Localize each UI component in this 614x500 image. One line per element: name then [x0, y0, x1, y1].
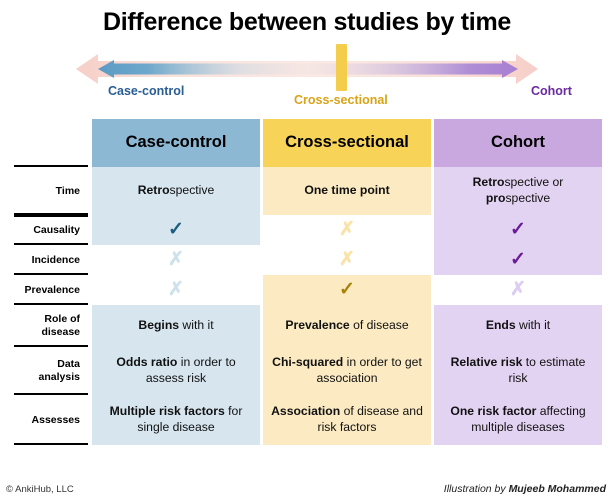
- mark-incidence-cross-sectional: ✗: [263, 245, 431, 275]
- copyright-notice: © AnkiHub, LLC: [6, 484, 74, 495]
- cell-role-case-control: Begins with it: [92, 305, 260, 347]
- table-row-data-analysis: Dataanalysis Odds ratio in order to asse…: [14, 347, 602, 395]
- column-header-case-control: Case-control: [92, 119, 260, 167]
- row-label-line2: analysis: [39, 371, 80, 383]
- cell-data-cohort: Relative risk to estimate risk: [434, 347, 602, 395]
- label-separator-line: [14, 215, 88, 217]
- cell-role-cross-sectional: Prevalence of disease: [263, 305, 431, 347]
- cell-bold-text: Ends: [486, 318, 516, 332]
- table-row-assesses: Assesses Multiple risk factors for singl…: [14, 395, 602, 445]
- table-row-prevalence: Prevalence ✗ ✓ ✗: [14, 275, 602, 305]
- table-header-row: Case-control Cross-sectional Cohort: [14, 119, 602, 167]
- cell-rest-text: spective or: [504, 175, 563, 189]
- cell-bold-text: Prevalence: [285, 318, 349, 332]
- cell-data-case-control: Odds ratio in order to assess risk: [92, 347, 260, 395]
- cell-bold-text: One time point: [304, 183, 389, 197]
- time-spectrum-arrow: [76, 52, 538, 86]
- table-row-role-of-disease: Role ofdisease Begins with it Prevalence…: [14, 305, 602, 347]
- spectrum-label-case-control: Case-control: [108, 84, 184, 98]
- cell-time-cohort: Retrospective or prospective: [434, 167, 602, 215]
- row-label-data-analysis: Dataanalysis: [14, 347, 88, 395]
- cell-bold-text: One risk factor: [450, 404, 536, 418]
- cell-data-cross-sectional: Chi-squared in order to get association: [263, 347, 431, 395]
- row-label-wrap-time: Time: [14, 167, 88, 215]
- cell-assesses-cohort: One risk factor affecting multiple disea…: [434, 395, 602, 445]
- row-label-causality: Causality: [14, 215, 88, 245]
- row-label-wrap-role: Role ofdisease: [14, 305, 88, 347]
- row-label-wrap-prevalence: Prevalence: [14, 275, 88, 305]
- table-row-causality: Causality ✓ ✗ ✓: [14, 215, 602, 245]
- row-label-wrap-incidence: Incidence: [14, 245, 88, 275]
- cell-bold-text: Association: [271, 404, 340, 418]
- cell-bold-text: Begins: [138, 318, 179, 332]
- spectrum-gradient-bar: [98, 60, 518, 78]
- cell-bold-text: Retro: [138, 183, 170, 197]
- mark-causality-cohort: ✓: [434, 215, 602, 245]
- illustration-credit: Illustration by Mujeeb Mohammed: [444, 483, 606, 495]
- spectrum-label-cohort: Cohort: [531, 84, 572, 98]
- page-title: Difference between studies by time: [0, 8, 614, 37]
- cell-rest-text: of disease: [350, 318, 409, 332]
- credit-prefix: Illustration by: [444, 483, 509, 495]
- spectrum-label-cross-sectional: Cross-sectional: [294, 93, 388, 107]
- column-header-cross-sectional: Cross-sectional: [263, 119, 431, 167]
- cell-rest-text: with it: [516, 318, 551, 332]
- row-label-wrap-assesses: Assesses: [14, 395, 88, 445]
- cell-rest-text: with it: [179, 318, 214, 332]
- mark-prevalence-case-control: ✗: [92, 275, 260, 305]
- comparison-table: Case-control Cross-sectional Cohort Time…: [14, 119, 602, 445]
- table-row-incidence: Incidence ✗ ✗ ✓: [14, 245, 602, 275]
- table-row-time: Time Retrospective One time point Retros…: [14, 167, 602, 215]
- cell-bold-text: Chi-squared: [272, 355, 343, 369]
- row-label-incidence: Incidence: [14, 245, 88, 275]
- label-separator-line: [14, 443, 88, 445]
- cell-bold-text: Relative risk: [451, 355, 523, 369]
- row-label-time: Time: [14, 167, 88, 215]
- mark-prevalence-cohort: ✗: [434, 275, 602, 305]
- cell-assesses-cross-sectional: Association of disease and risk factors: [263, 395, 431, 445]
- row-label-wrap-causality: Causality: [14, 215, 88, 245]
- row-label-prevalence: Prevalence: [14, 275, 88, 305]
- cell-role-cohort: Ends with it: [434, 305, 602, 347]
- row-label-line2: disease: [41, 326, 80, 338]
- row-label-line1: Role of: [44, 313, 80, 325]
- cell-assesses-case-control: Multiple risk factors for single disease: [92, 395, 260, 445]
- row-label-wrap-data: Dataanalysis: [14, 347, 88, 395]
- cell-bold-text: Odds ratio: [116, 355, 177, 369]
- credit-name: Mujeeb Mohammed: [509, 483, 606, 495]
- cell-time-cross-sectional: One time point: [263, 167, 431, 215]
- cell-rest-text-2: spective: [505, 191, 550, 205]
- column-header-cohort: Cohort: [434, 119, 602, 167]
- cell-bold-text-2: pro: [486, 191, 506, 205]
- cell-time-case-control: Retrospective: [92, 167, 260, 215]
- mark-causality-cross-sectional: ✗: [263, 215, 431, 245]
- mark-prevalence-cross-sectional: ✓: [263, 275, 431, 305]
- mark-incidence-cohort: ✓: [434, 245, 602, 275]
- row-label-role-of-disease: Role ofdisease: [14, 305, 88, 347]
- cross-sectional-marker-bar: [336, 44, 347, 91]
- row-label-assesses: Assesses: [14, 395, 88, 445]
- empty-corner-cell: [14, 119, 88, 167]
- mark-causality-case-control: ✓: [92, 215, 260, 245]
- row-label-line1: Data: [57, 358, 80, 370]
- cell-bold-text: Multiple risk factors: [110, 404, 225, 418]
- cell-rest-text: spective: [170, 183, 215, 197]
- cell-bold-text: Retro: [473, 175, 505, 189]
- mark-incidence-case-control: ✗: [92, 245, 260, 275]
- header-label-spacer: [14, 119, 88, 167]
